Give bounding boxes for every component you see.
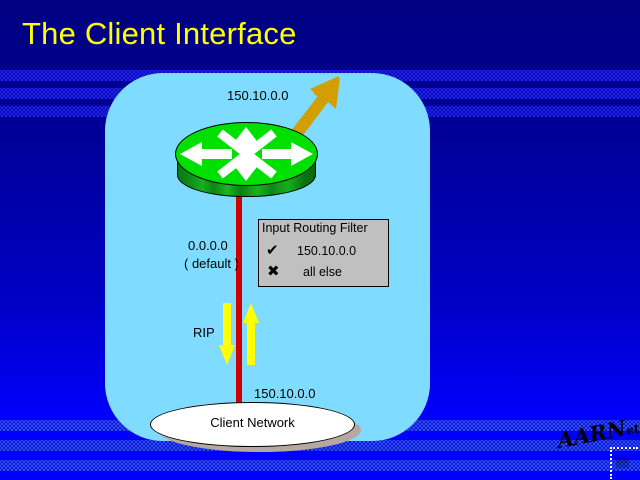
- rip-up-arrow-icon: [243, 303, 259, 370]
- link-line: [236, 195, 242, 407]
- uplink-network-label: 150.10.0.0: [227, 88, 288, 103]
- aarnet-logo-sub: et: [625, 422, 640, 438]
- filter-row-allow-label: 150.10.0.0: [297, 244, 356, 258]
- check-icon: ✔: [266, 243, 279, 258]
- default-route-label-2: ( default ): [184, 256, 239, 271]
- default-route-label-1: 0.0.0.0: [188, 238, 228, 253]
- input-routing-filter-box: Input Routing Filter ✔ 150.10.0.0 ✖ all …: [258, 219, 389, 287]
- router-top: [175, 122, 318, 186]
- routing-protocol-label: RIP: [193, 325, 215, 340]
- corner-placeholder-box: ▒▒: [610, 447, 638, 479]
- router-icon: [175, 122, 318, 206]
- client-network-ellipse: Client Network: [150, 402, 355, 447]
- corner-placeholder-mark: ▒▒: [616, 457, 629, 467]
- cross-icon: ✖: [267, 264, 280, 279]
- slide-canvas: The Client Interface 150.10.0.0: [0, 0, 640, 480]
- client-link-network-label: 150.10.0.0: [254, 386, 315, 401]
- rip-down-arrow-icon: [219, 303, 235, 370]
- client-network-label: Client Network: [151, 415, 354, 430]
- filter-heading: Input Routing Filter: [262, 221, 368, 235]
- filter-row-deny-label: all else: [303, 265, 342, 279]
- slide-title: The Client Interface: [22, 16, 297, 52]
- decor-stripe-bottom-3: [0, 460, 640, 471]
